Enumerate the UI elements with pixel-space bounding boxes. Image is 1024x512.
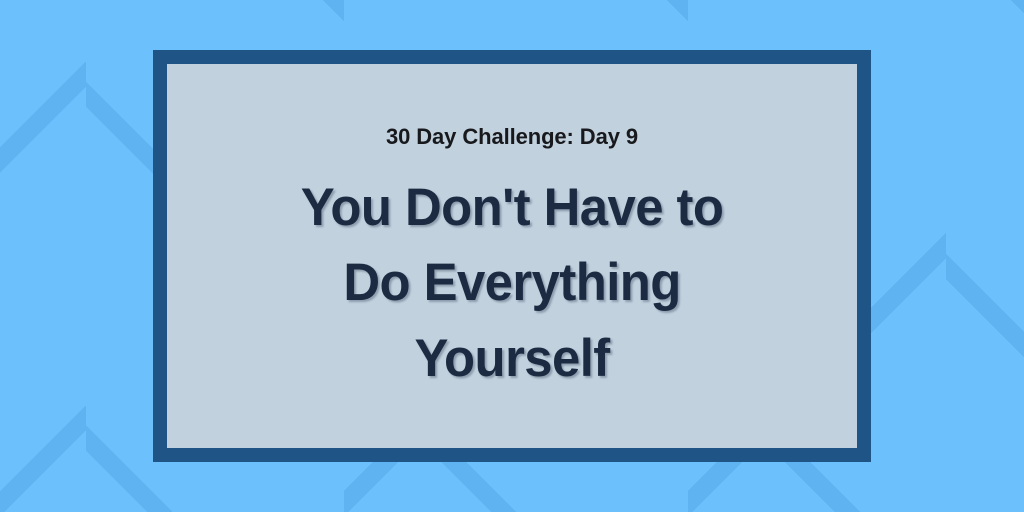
headline-line-2: Do Everything bbox=[301, 245, 724, 320]
card-frame-border: 30 Day Challenge: Day 9 You Don't Have t… bbox=[153, 50, 871, 462]
card-panel: 30 Day Challenge: Day 9 You Don't Have t… bbox=[167, 64, 857, 448]
headline-line-1: You Don't Have to bbox=[301, 170, 724, 245]
eyebrow-text: 30 Day Challenge: Day 9 bbox=[386, 126, 638, 148]
page-title: You Don't Have to Do Everything Yourself bbox=[301, 170, 724, 396]
headline-line-3: Yourself bbox=[301, 321, 724, 396]
title-card-canvas: 30 Day Challenge: Day 9 You Don't Have t… bbox=[0, 0, 1024, 512]
